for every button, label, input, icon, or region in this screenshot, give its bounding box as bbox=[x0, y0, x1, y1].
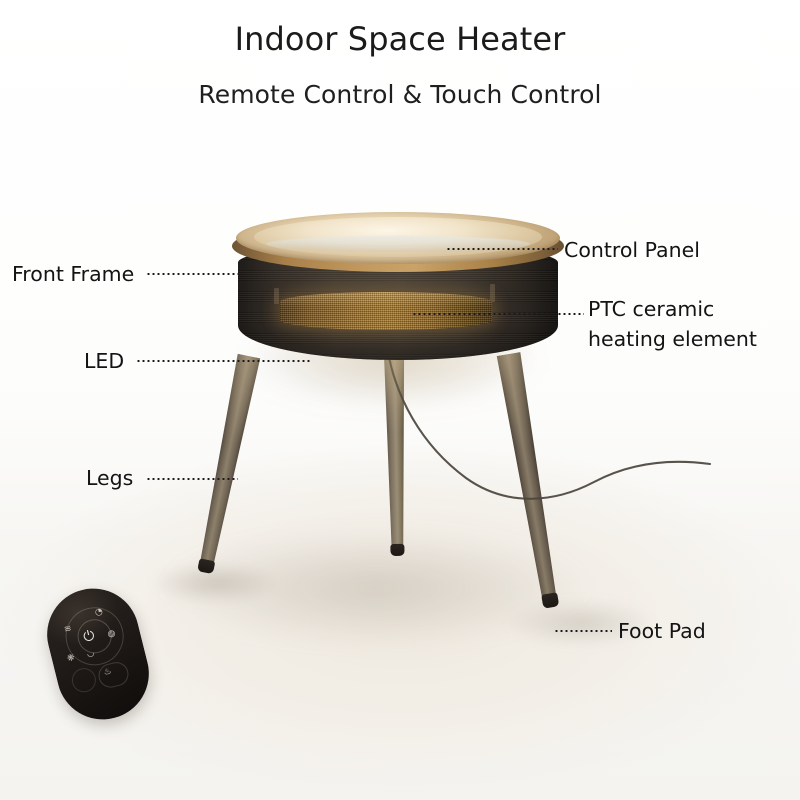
swing-icon[interactable]: ◡ bbox=[86, 649, 96, 660]
mode-icon[interactable]: ❋ bbox=[66, 654, 76, 665]
control-panel-top[interactable] bbox=[232, 212, 564, 274]
ptc-ceramic-heating-element bbox=[280, 292, 492, 330]
leader-line-ptc bbox=[412, 313, 584, 315]
leader-line-legs bbox=[146, 478, 238, 480]
foot-pad-middle bbox=[390, 544, 404, 556]
temperature-icon[interactable]: ◍ bbox=[107, 629, 117, 640]
callout-label-foot-pad: Foot Pad bbox=[618, 619, 706, 643]
vent-mark-left bbox=[274, 288, 279, 304]
remote-control[interactable]: ⏻ ◔ ≋ ◍ ◡ ❋ ♨ bbox=[37, 579, 158, 729]
callout-label-led: LED bbox=[84, 349, 124, 373]
left-foot-shadow bbox=[150, 562, 280, 604]
vent-mark-right bbox=[490, 284, 495, 302]
leader-line-control-panel bbox=[446, 248, 558, 250]
callout-label-front-frame: Front Frame bbox=[12, 262, 134, 286]
heat-band-mesh bbox=[280, 292, 492, 330]
clock-icon[interactable]: ◔ bbox=[94, 608, 104, 619]
leader-line-front-frame bbox=[146, 273, 238, 275]
callout-label-ptc-line1: PTC ceramic bbox=[588, 297, 714, 321]
leader-line-led bbox=[136, 360, 310, 362]
infographic-canvas: Indoor Space Heater Remote Control & Tou… bbox=[0, 0, 800, 800]
leader-line-foot-pad bbox=[554, 630, 612, 632]
callout-label-legs: Legs bbox=[86, 466, 133, 490]
product-photo: ⏻ ◔ ≋ ◍ ◡ ❋ ♨ bbox=[0, 0, 800, 800]
callout-label-ptc-line2: heating element bbox=[588, 327, 757, 351]
callout-label-control-panel: Control Panel bbox=[564, 238, 700, 262]
